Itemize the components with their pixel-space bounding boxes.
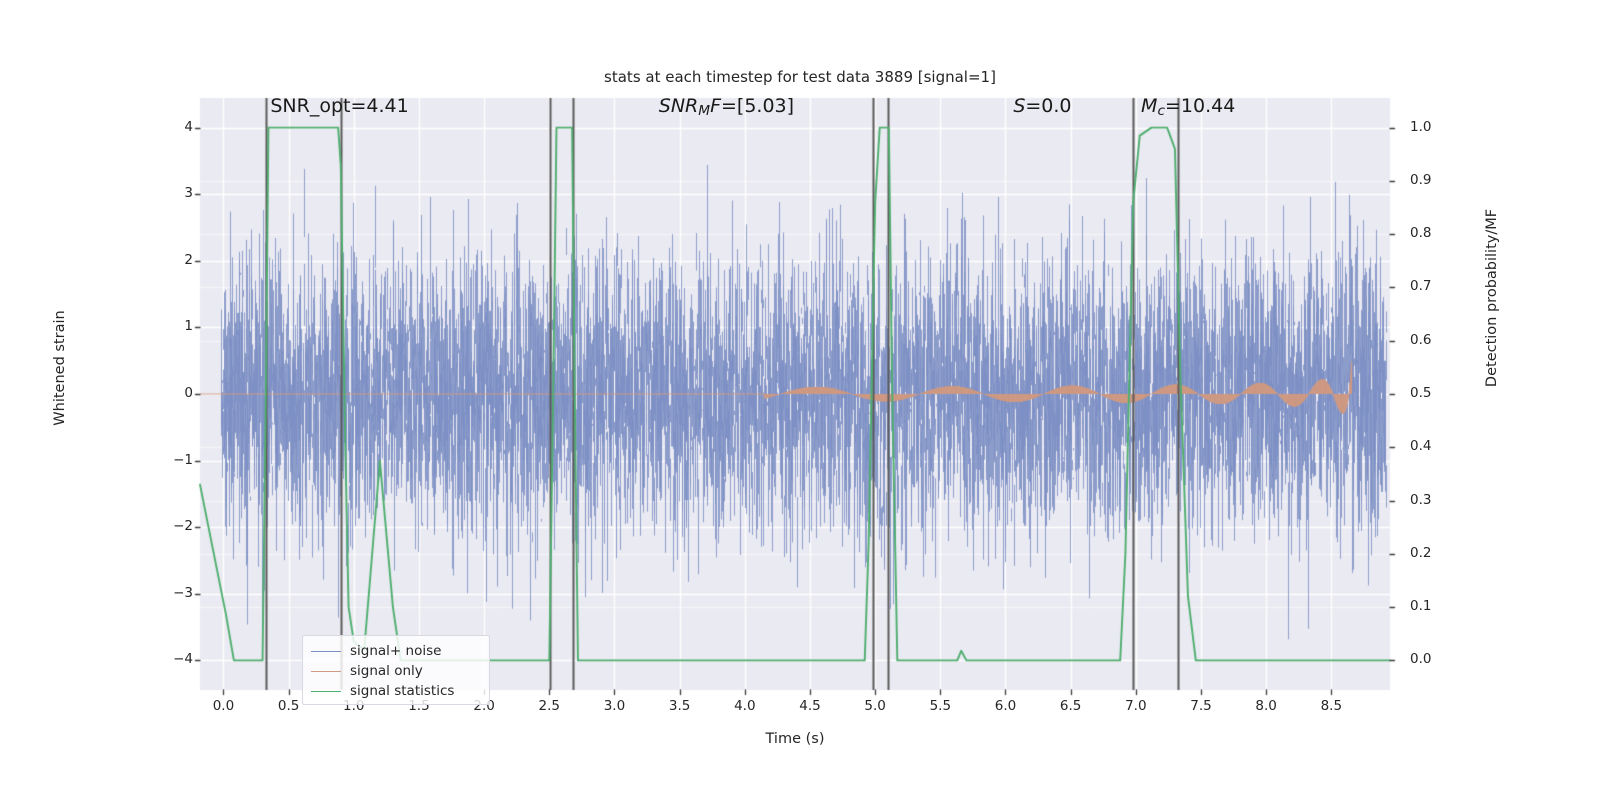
y-tick-label-left: 2 <box>147 252 193 268</box>
y-tick-label-right: 0.7 <box>1410 278 1462 294</box>
legend-item: signal statistics <box>311 681 481 701</box>
legend-label: signal+ noise <box>350 641 441 661</box>
x-tick-label: 8.0 <box>1236 698 1296 714</box>
legend-item: signal only <box>311 661 481 681</box>
x-tick-label: 5.0 <box>845 698 905 714</box>
y-tick-label-left: 0 <box>147 385 193 401</box>
annotation-s-stat: S=0.0 <box>1013 95 1071 117</box>
x-tick-label: 6.5 <box>1041 698 1101 714</box>
y-axis-label-left: Whitened strain <box>52 238 68 498</box>
chart-figure: stats at each timestep for test data 388… <box>0 0 1600 800</box>
page-title: stats at each timestep for test data 388… <box>0 68 1600 86</box>
y-tick-label-right: 0.6 <box>1410 332 1462 348</box>
plot-canvas <box>0 0 1600 800</box>
x-tick-label: 6.0 <box>975 698 1035 714</box>
y-tick-label-right: 0.4 <box>1410 438 1462 454</box>
y-tick-label-right: 0.3 <box>1410 492 1462 508</box>
y-tick-label-left: −4 <box>147 651 193 667</box>
y-tick-label-left: 3 <box>147 185 193 201</box>
y-tick-label-left: −1 <box>147 452 193 468</box>
x-tick-label: 3.5 <box>650 698 710 714</box>
legend-swatch-icon <box>311 691 341 692</box>
x-tick-label: 4.5 <box>780 698 840 714</box>
x-tick-label: 2.5 <box>519 698 579 714</box>
annotation-chirpmass: Mc=10.44 <box>1141 95 1235 119</box>
x-tick-label: 4.0 <box>715 698 775 714</box>
x-tick-label: 8.5 <box>1301 698 1361 714</box>
legend-swatch-icon <box>311 651 341 652</box>
legend-swatch-icon <box>311 671 341 672</box>
x-tick-label: 7.5 <box>1171 698 1231 714</box>
y-tick-label-right: 0.0 <box>1410 651 1462 667</box>
legend-item: signal+ noise <box>311 641 481 661</box>
y-tick-label-right: 0.2 <box>1410 545 1462 561</box>
annotation-snr-opt: SNR_opt=4.41 <box>270 95 408 117</box>
y-tick-label-right: 0.5 <box>1410 385 1462 401</box>
legend-label: signal statistics <box>350 681 454 701</box>
y-axis-label-right: Detection probability/MF <box>1484 168 1500 428</box>
legend: signal+ noisesignal onlysignal statistic… <box>302 635 490 705</box>
x-tick-label: 0.0 <box>193 698 253 714</box>
y-tick-label-right: 1.0 <box>1410 119 1462 135</box>
y-tick-label-left: −3 <box>147 585 193 601</box>
y-tick-label-left: −2 <box>147 518 193 534</box>
y-tick-label-right: 0.9 <box>1410 172 1462 188</box>
x-axis-label: Time (s) <box>200 731 1390 747</box>
y-tick-label-left: 4 <box>147 119 193 135</box>
annotation-snr-mf: SNRMF=[5.03] <box>659 95 794 119</box>
legend-label: signal only <box>350 661 423 681</box>
y-tick-label-right: 0.8 <box>1410 225 1462 241</box>
x-tick-label: 7.0 <box>1106 698 1166 714</box>
y-tick-label-right: 0.1 <box>1410 598 1462 614</box>
y-tick-label-left: 1 <box>147 318 193 334</box>
x-tick-label: 3.0 <box>584 698 644 714</box>
x-tick-label: 5.5 <box>910 698 970 714</box>
